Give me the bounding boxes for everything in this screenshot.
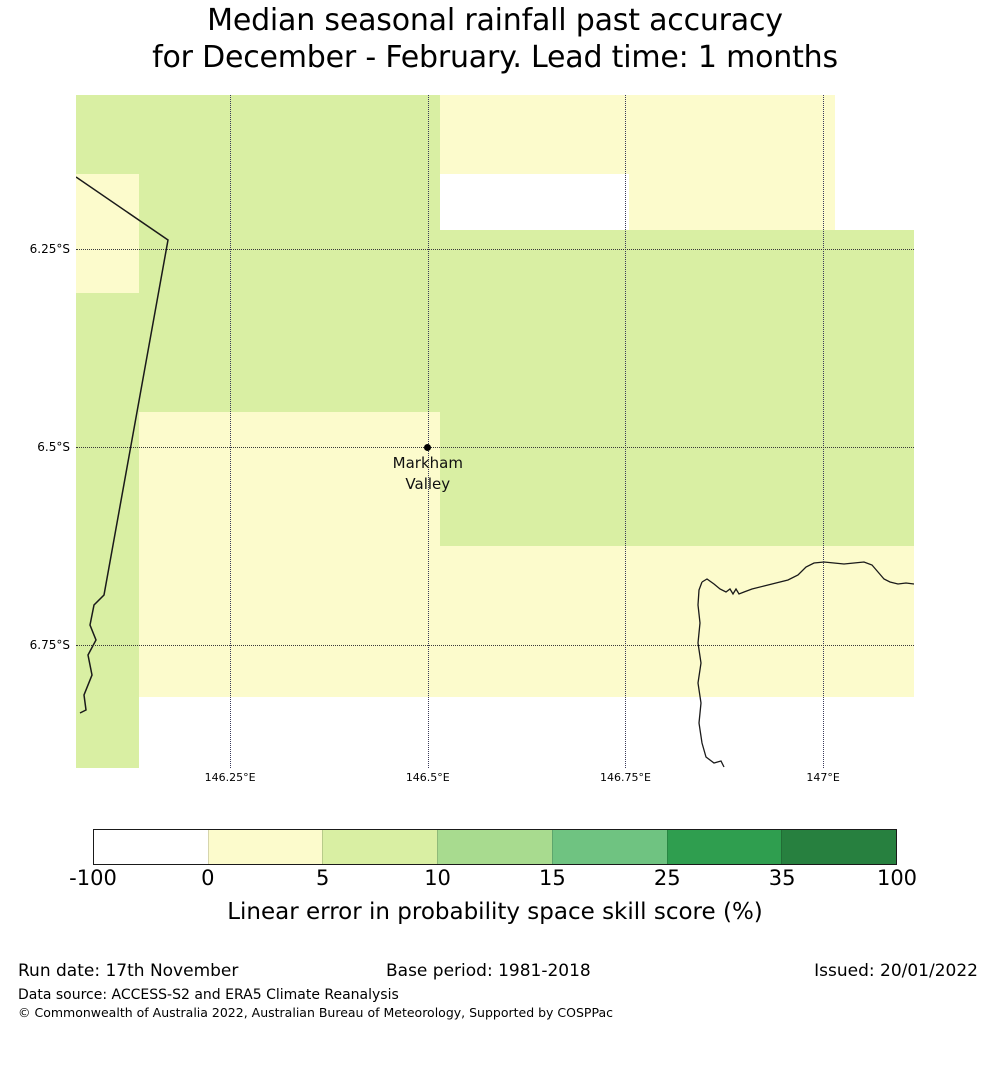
y-axis-tick: 6.75°S [10, 639, 70, 651]
colorbar-segment[interactable] [208, 830, 323, 864]
issued-date-text: Issued: 20/01/2022 [814, 960, 978, 982]
y-axis-tick-labels: 6.25°S6.5°S6.75°S [8, 95, 70, 768]
footer: Run date: 17th November Base period: 198… [18, 960, 978, 1021]
data-source-text: Data source: ACCESS-S2 and ERA5 Climate … [18, 986, 978, 1004]
x-axis-tick: 146.25°E [170, 772, 290, 784]
colorbar-segment[interactable] [667, 830, 782, 864]
colorbar-tick-labels: -1000510152535100 [93, 866, 897, 892]
colorbar-tick: 10 [383, 866, 493, 890]
coastline-path-east [702, 562, 914, 594]
map-panel[interactable]: Markham Valley [76, 95, 914, 768]
colorbar-tick: 100 [842, 866, 952, 890]
colorbar[interactable] [93, 829, 897, 865]
colorbar-tick: 5 [268, 866, 378, 890]
location-marker-label: Markham Valley [338, 453, 518, 495]
x-axis-tick: 146.5°E [368, 772, 488, 784]
coastline-overlay [76, 95, 914, 768]
colorbar-tick: -100 [38, 866, 148, 890]
colorbar-tick: 0 [153, 866, 263, 890]
coastline-path-south [698, 582, 724, 767]
base-period-text: Base period: 1981-2018 [386, 960, 591, 982]
x-axis-tick: 146.75°E [565, 772, 685, 784]
x-axis-tick: 147°E [763, 772, 883, 784]
colorbar-tick: 25 [612, 866, 722, 890]
footer-row-primary: Run date: 17th November Base period: 198… [18, 960, 978, 984]
colorbar-segment[interactable] [437, 830, 552, 864]
run-date-text: Run date: 17th November [18, 960, 238, 982]
colorbar-tick: 15 [497, 866, 607, 890]
colorbar-segment[interactable] [781, 830, 896, 864]
x-axis-tick-labels: 146.25°E146.5°E146.75°E147°E [76, 772, 914, 788]
y-axis-tick: 6.25°S [10, 243, 70, 255]
copyright-text: © Commonwealth of Australia 2022, Austra… [18, 1004, 978, 1021]
colorbar-segments[interactable] [93, 829, 897, 865]
colorbar-segment[interactable] [322, 830, 437, 864]
country-border-line [76, 177, 168, 713]
colorbar-axis-label: Linear error in probability space skill … [0, 898, 990, 926]
colorbar-segment[interactable] [552, 830, 667, 864]
colorbar-tick: 35 [727, 866, 837, 890]
y-axis-tick: 6.5°S [10, 441, 70, 453]
page-title: Median seasonal rainfall past accuracy f… [0, 0, 990, 76]
colorbar-segment[interactable] [94, 830, 208, 864]
